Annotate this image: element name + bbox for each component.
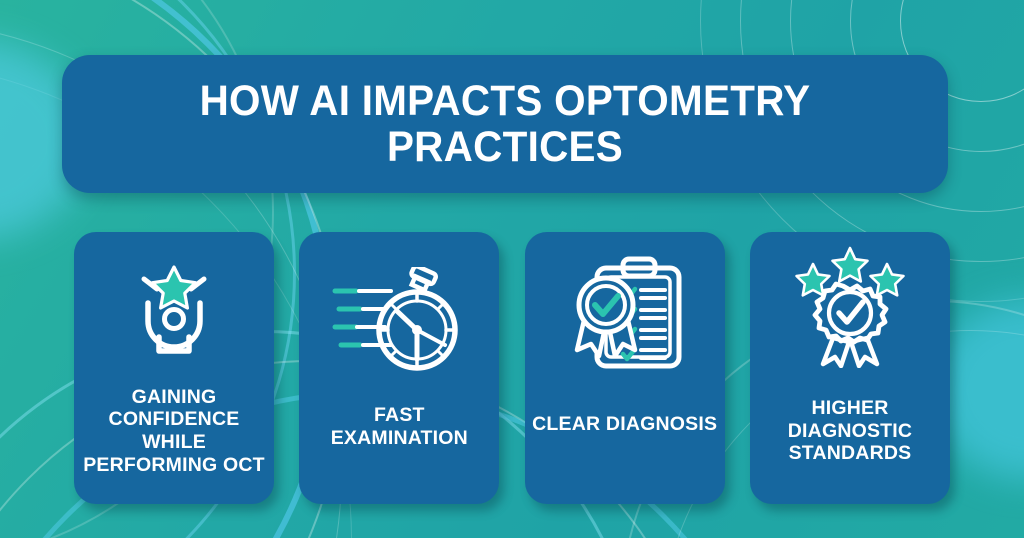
card-label: HIGHER DIAGNOSTIC STANDARDS (750, 366, 950, 496)
card-label: FAST EXAMINATION (299, 380, 499, 474)
award-badge-with-three-stars-icon (789, 248, 911, 366)
person-raising-arms-with-star-icon (118, 248, 230, 366)
card-fast-examination[interactable]: FAST EXAMINATION (299, 232, 499, 504)
card-clear-diagnosis[interactable]: CLEAR DIAGNOSIS (525, 232, 725, 504)
card-gaining-confidence[interactable]: GAINING CONFIDENCE WHILE PERFORMING OCT (74, 232, 274, 504)
title-banner: HOW AI IMPACTS OPTOMETRY PRACTICES (62, 55, 948, 193)
clipboard-checklist-with-award-icon (561, 256, 689, 374)
stopwatch-with-speed-lines-icon (329, 262, 469, 380)
benefit-card-row: GAINING CONFIDENCE WHILE PERFORMING OCT (74, 232, 950, 504)
infographic-canvas: HOW AI IMPACTS OPTOMETRY PRACTICES (0, 0, 1024, 538)
card-higher-diagnostic-standards[interactable]: HIGHER DIAGNOSTIC STANDARDS (750, 232, 950, 504)
page-title: HOW AI IMPACTS OPTOMETRY PRACTICES (89, 78, 922, 171)
card-label: GAINING CONFIDENCE WHILE PERFORMING OCT (74, 366, 274, 496)
card-label: CLEAR DIAGNOSIS (526, 374, 723, 474)
